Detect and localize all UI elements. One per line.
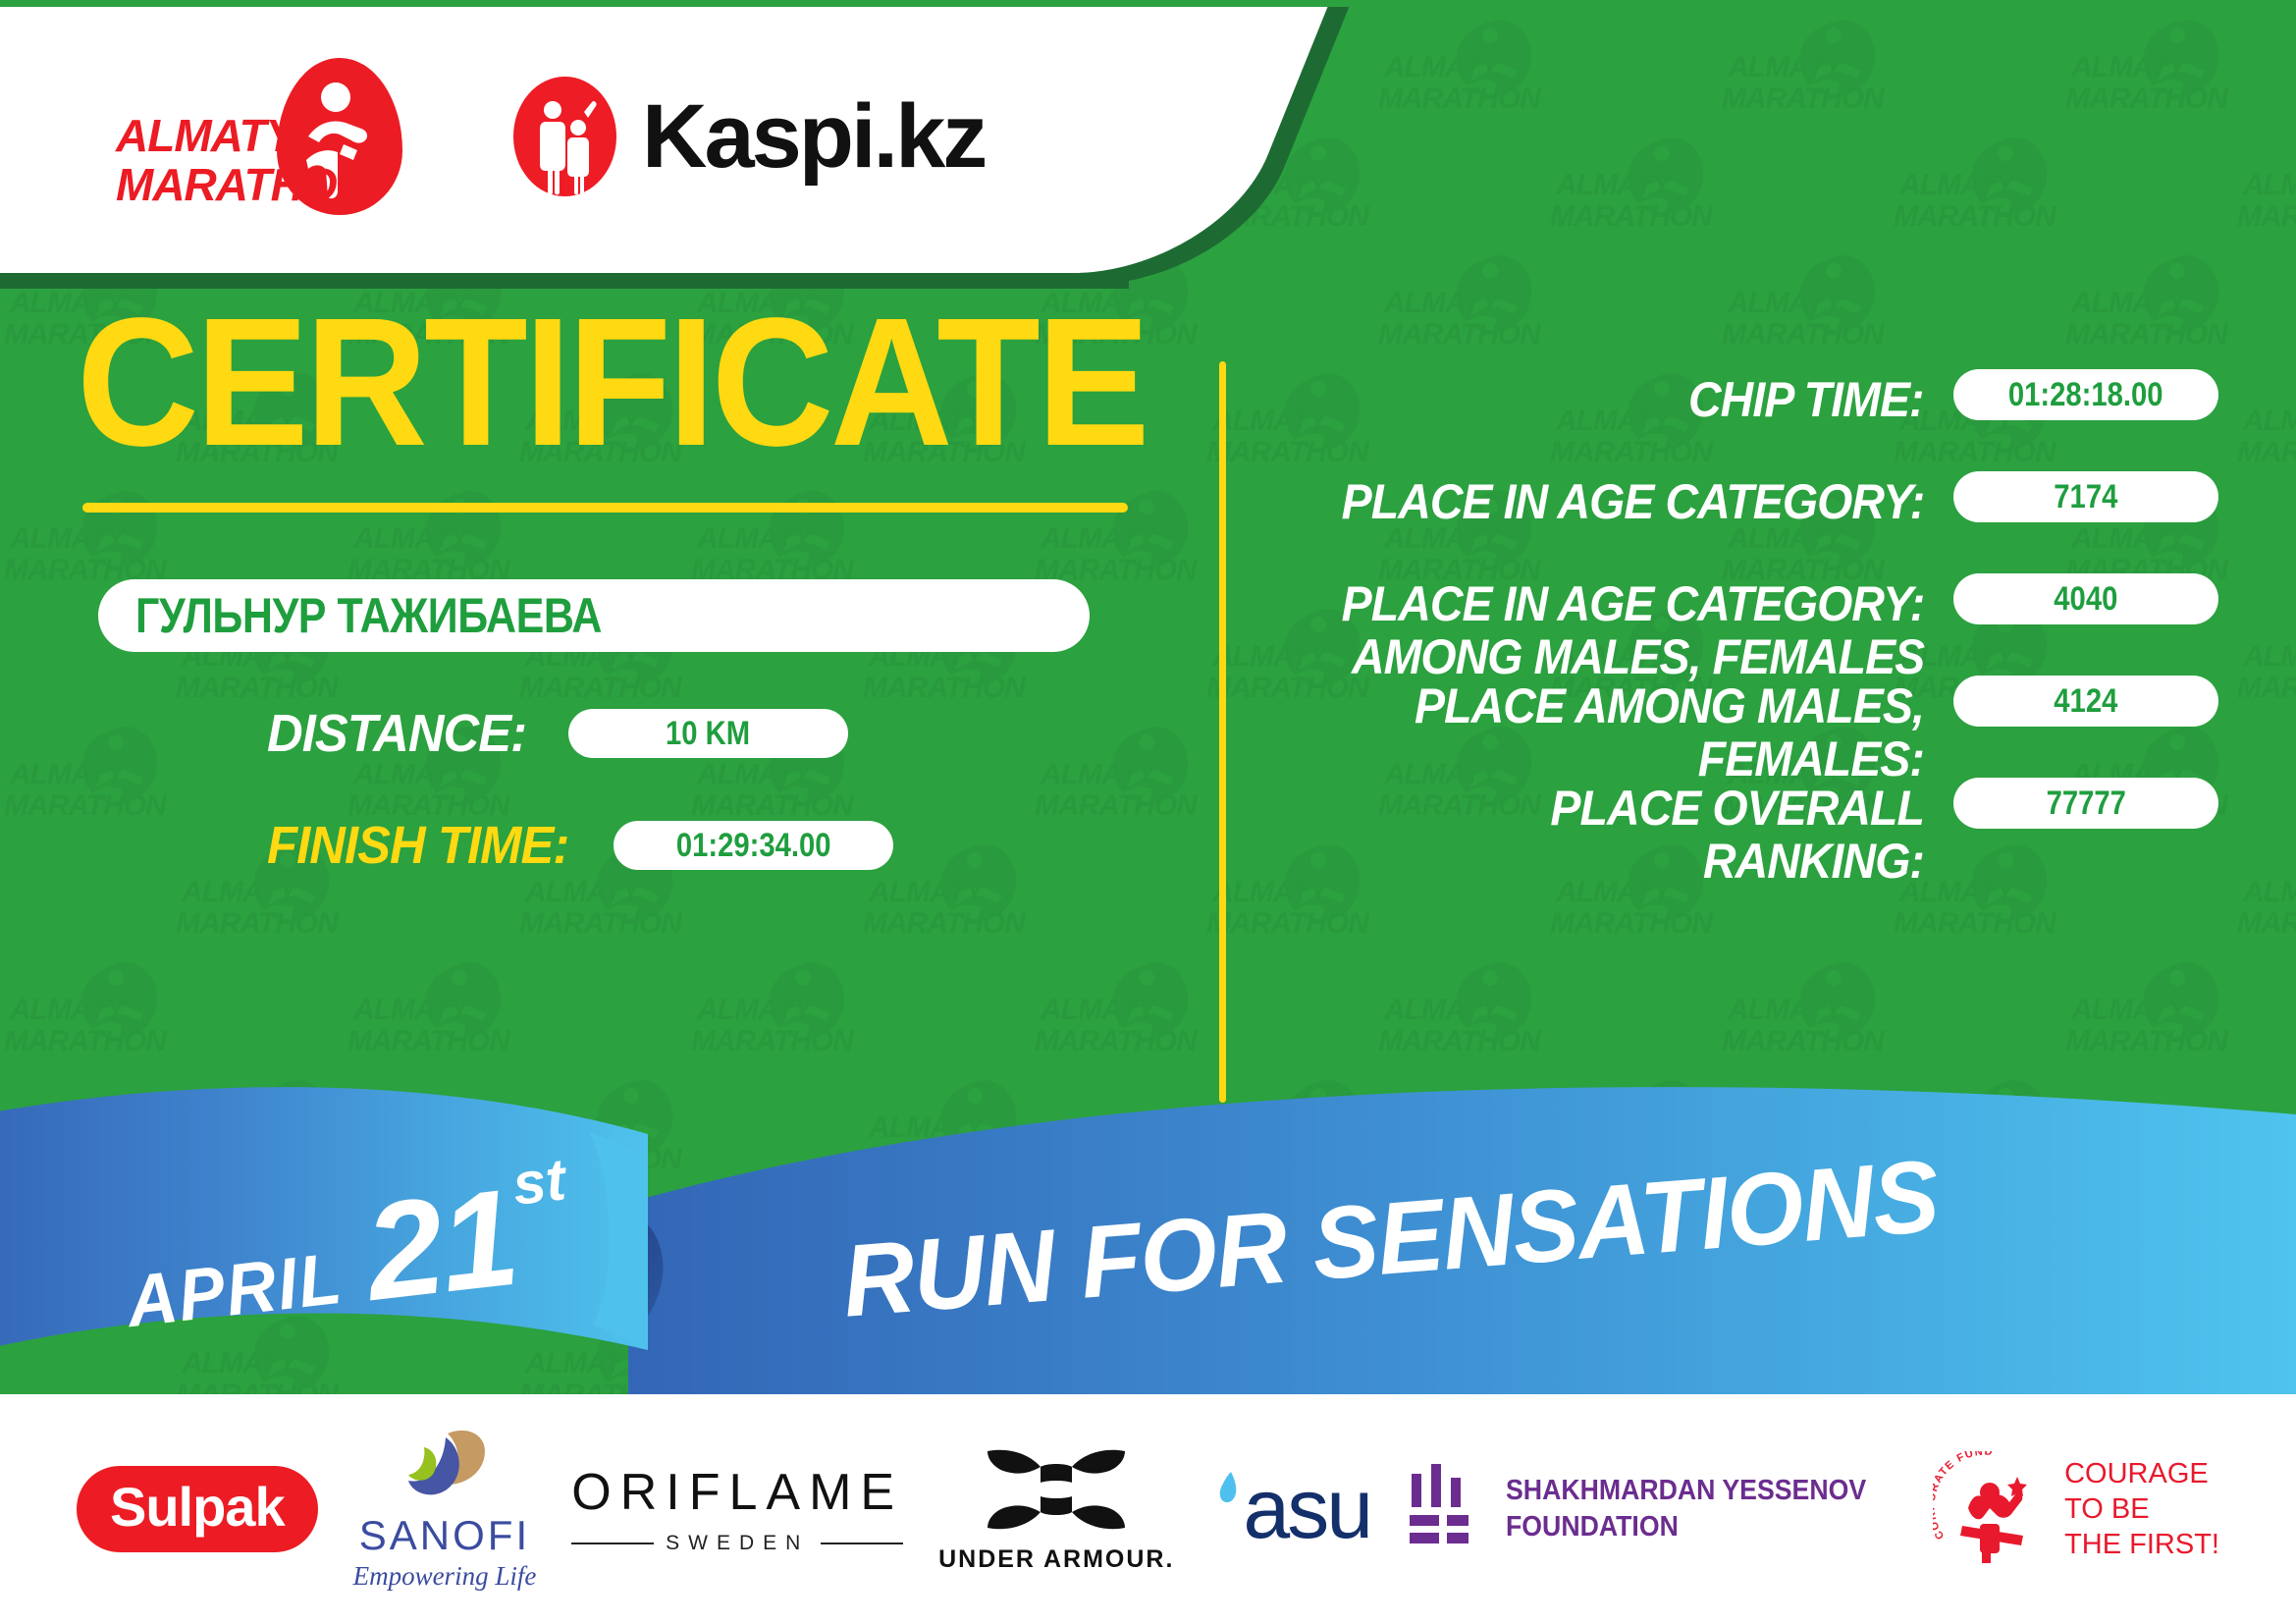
oriflame-wordmark: ORIFLAME: [571, 1463, 903, 1522]
page-title: CERTIFICATE: [77, 295, 1119, 471]
asu-wordmark: asu: [1243, 1461, 1370, 1558]
courage-fund-icon: CORPORATE FUND: [1933, 1451, 2049, 1567]
oriflame-rule-right: [821, 1543, 903, 1544]
oriflame-sub: SWEDEN: [571, 1532, 903, 1555]
finish-time-label: FINISH TIME:: [267, 815, 568, 876]
sponsor-asu: asu: [1209, 1461, 1370, 1558]
sulpak-logo: Sulpak: [77, 1466, 318, 1552]
kaspi-people-icon: [513, 77, 616, 196]
blue-ribbon: APRIL 21 st RUN FOR SENSATIONS: [0, 1056, 2296, 1448]
place-age-category-value: 7174: [2054, 478, 2117, 516]
distance-label: DISTANCE:: [267, 703, 526, 764]
place-overall-value: 77777: [2046, 785, 2125, 823]
place-among-gender-value-pill: 4124: [1953, 676, 2218, 727]
sanofi-tagline: Empowering Life: [353, 1561, 537, 1592]
almaty-marathon-wordmark: ALMATY MARATHON: [116, 111, 351, 209]
title-underline: [82, 503, 1128, 513]
asu-drop-icon: [1209, 1464, 1243, 1554]
place-age-category-value-pill: 7174: [1953, 471, 2218, 522]
place-age-category-gender-value: 4040: [2054, 580, 2117, 619]
place-overall-label: PLACE OVERALL RANKING:: [1321, 782, 1924, 888]
event-day: 21: [360, 1174, 522, 1316]
sponsor-oriflame: ORIFLAME SWEDEN: [571, 1463, 903, 1555]
chip-time-value-pill: 01:28:18.00: [1953, 369, 2218, 420]
courage-line-2: TO BE: [2064, 1491, 2219, 1527]
top-green-strip: [0, 0, 2296, 7]
logo-line-1: ALMATY: [116, 111, 351, 160]
sponsor-sanofi: SANOFI Empowering Life: [353, 1428, 537, 1592]
place-among-gender-label: PLACE AMONG MALES, FEMALES:: [1415, 679, 1924, 785]
courage-wordmark: COURAGE TO BE THE FIRST!: [2064, 1456, 2219, 1562]
sponsor-under-armour: UNDER ARMOUR.: [938, 1445, 1174, 1574]
under-armour-icon: [978, 1445, 1135, 1540]
sponsor-courage-fund: CORPORATE FUND COURAGE TO BE THE FIRST!: [1933, 1451, 2219, 1567]
chip-time-label: CHIP TIME:: [1688, 373, 1924, 426]
kaspi-wordmark: Kaspi.kz: [642, 85, 985, 189]
header-logos: ALMATY MARATHON Kaspi.k: [0, 0, 1178, 273]
place-overall-value-pill: 77777: [1953, 778, 2218, 829]
athlete-name: ГУЛЬНУР ТАЖИБАЕВА: [135, 587, 602, 644]
sanofi-wordmark: SANOFI: [359, 1512, 530, 1559]
left-column: CERTIFICATE ГУЛЬНУР ТАЖИБАЕВА DISTANCE: …: [0, 295, 1198, 876]
place-among-gender-row: PLACE AMONG MALES, FEMALES: 4124: [1276, 679, 2218, 744]
courage-line-3: THE FIRST!: [2064, 1527, 2219, 1562]
yessenov-mark-icon: [1406, 1462, 1480, 1556]
logo-line-2: MARATHON: [116, 160, 351, 209]
finish-time-value-pill: 01:29:34.00: [614, 821, 893, 870]
sponsor-sulpak: Sulpak: [77, 1466, 318, 1552]
athlete-name-field: ГУЛЬНУР ТАЖИБАЕВА: [98, 579, 1090, 652]
place-age-category-gender-label: PLACE IN AGE CATEGORY: AMONG MALES, FEMA…: [1341, 577, 1924, 683]
vertical-divider: [1219, 361, 1226, 1103]
certificate-canvas: ALMATY MARATHON Kaspi.k: [0, 0, 2296, 1624]
place-age-category-row: PLACE IN AGE CATEGORY: 7174: [1276, 475, 2218, 540]
sponsor-strip: Sulpak SANOFI Empowering Life ORIFLAME S…: [0, 1394, 2296, 1624]
place-age-category-label: PLACE IN AGE CATEGORY:: [1341, 475, 1924, 528]
under-armour-wordmark: UNDER ARMOUR.: [938, 1545, 1174, 1574]
yessenov-wordmark: SHAKHMARDAN YESSENOV FOUNDATION: [1506, 1473, 1866, 1545]
sponsor-yessenov-foundation: SHAKHMARDAN YESSENOV FOUNDATION: [1406, 1462, 1897, 1556]
finish-time-row: FINISH TIME: 01:29:34.00: [267, 815, 1198, 876]
sanofi-mark-icon: [391, 1428, 499, 1508]
right-column: CHIP TIME: 01:28:18.00 PLACE IN AGE CATE…: [1276, 373, 2218, 884]
place-age-category-gender-value-pill: 4040: [1953, 573, 2218, 624]
sulpak-wordmark: Sulpak: [110, 1476, 285, 1538]
oriflame-country: SWEDEN: [666, 1532, 809, 1555]
finish-time-value: 01:29:34.00: [676, 827, 831, 865]
yessenov-line-2: FOUNDATION: [1506, 1509, 1866, 1545]
courage-line-1: COURAGE: [2064, 1456, 2219, 1491]
place-overall-row: PLACE OVERALL RANKING: 77777: [1276, 782, 2218, 846]
chip-time-row: CHIP TIME: 01:28:18.00: [1276, 373, 2218, 438]
kaspi-mark: [513, 77, 616, 196]
distance-value: 10 KM: [666, 715, 750, 753]
place-age-category-gender-row: PLACE IN AGE CATEGORY: AMONG MALES, FEMA…: [1276, 577, 2218, 642]
distance-value-pill: 10 KM: [568, 709, 848, 758]
oriflame-rule-left: [571, 1543, 654, 1544]
almaty-marathon-logo: ALMATY MARATHON: [116, 58, 420, 215]
distance-row: DISTANCE: 10 KM: [267, 703, 1198, 764]
chip-time-value: 01:28:18.00: [2008, 376, 2163, 414]
kaspi-logo: Kaspi.kz: [513, 77, 985, 196]
yessenov-line-1: SHAKHMARDAN YESSENOV: [1506, 1473, 1866, 1509]
place-among-gender-value: 4124: [2054, 682, 2117, 721]
